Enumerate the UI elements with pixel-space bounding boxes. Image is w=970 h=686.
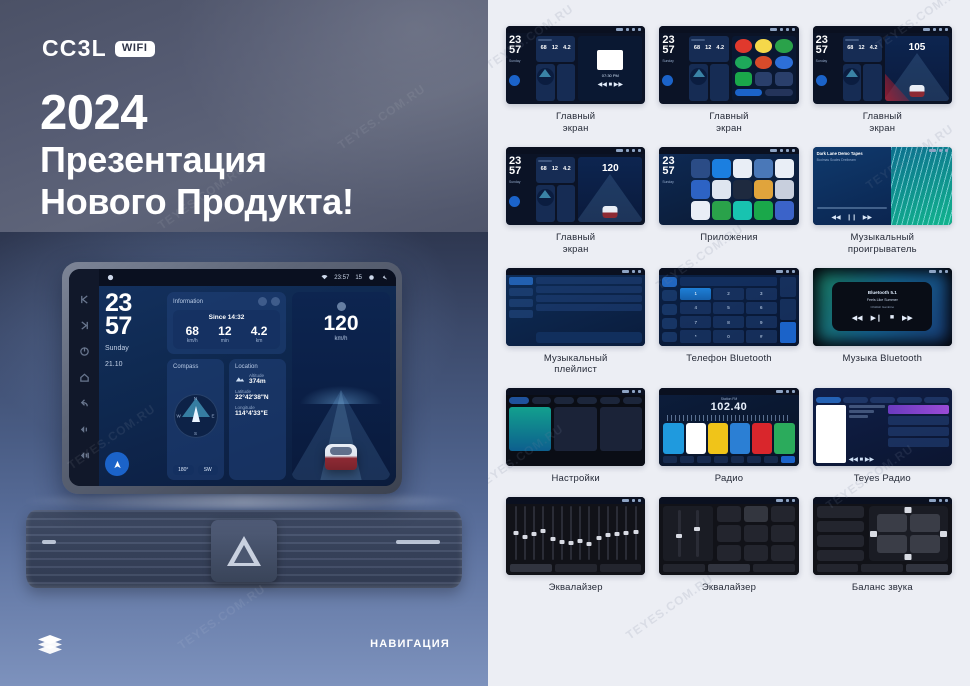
thumbnail-apps[interactable]: 2357Sunday: [659, 147, 798, 225]
thumbnail-teyes-radio[interactable]: ◀◀ ■ ▶▶: [813, 388, 952, 466]
slider-bass[interactable]: [678, 510, 681, 557]
hero-footer: НАВИГАЦИЯ: [0, 594, 488, 686]
information-card-header: Information: [173, 297, 280, 306]
thumbnail-bluetooth-phone[interactable]: 1 2 3 4 5 6 7 8 9 * 0 #: [659, 268, 798, 346]
speaker-front-left: [877, 514, 907, 532]
balance-view[interactable]: [813, 497, 952, 575]
dash-highlight: [20, 494, 469, 508]
eq-band[interactable]: [595, 506, 602, 560]
play-icon[interactable]: ▶❙: [871, 314, 882, 322]
dialer-actions[interactable]: [780, 277, 796, 343]
eq-band[interactable]: [567, 506, 574, 560]
gallery-item[interactable]: Настройки: [506, 388, 645, 485]
preset-custom[interactable]: [771, 545, 795, 561]
power-key[interactable]: [79, 346, 90, 357]
search-tab[interactable]: [662, 304, 677, 315]
app-icon-google[interactable]: [691, 201, 710, 220]
settings-tabs[interactable]: [509, 397, 642, 404]
preset-rear[interactable]: [817, 535, 864, 547]
station-row[interactable]: [888, 405, 949, 414]
driving-view-thumb[interactable]: 120: [578, 157, 642, 222]
app-icon-radio[interactable]: [775, 201, 794, 220]
tab-system[interactable]: [577, 397, 597, 404]
app-icon-camera[interactable]: [775, 159, 794, 178]
app-icon-play-store[interactable]: [735, 72, 752, 86]
gallery-item[interactable]: Эквалайзер: [659, 497, 798, 594]
app-icon-contacts[interactable]: [712, 180, 731, 199]
eq-band[interactable]: [558, 506, 565, 560]
product-logo: CC3L WIFI: [42, 35, 155, 62]
preset-6[interactable]: [774, 423, 794, 454]
dash-led-right: [396, 540, 440, 544]
eq-band[interactable]: [586, 506, 593, 560]
station-list[interactable]: [888, 405, 949, 463]
thumb-clock-minutes: 57: [509, 167, 533, 177]
balance-down-arrow[interactable]: [905, 554, 912, 560]
previous-icon[interactable]: ◀◀: [831, 214, 840, 221]
scan-button[interactable]: [680, 456, 694, 463]
head-unit-bezel: 23:57 15 23: [62, 262, 402, 494]
contacts-tab[interactable]: [662, 290, 677, 301]
settings-tab[interactable]: [662, 332, 677, 343]
track-row[interactable]: [536, 277, 642, 284]
trip-stat: 4.2 km: [251, 325, 268, 344]
dialer-sidebar[interactable]: [662, 277, 677, 343]
hero-title-line1: Презентация: [40, 139, 354, 181]
key-7[interactable]: 7: [680, 316, 711, 328]
tab-live[interactable]: [816, 397, 841, 403]
presentation-slide: CC3L WIFI 2024 Презентация Нового Продук…: [0, 0, 970, 686]
compass-w: W: [177, 414, 181, 419]
key-2[interactable]: 2: [713, 288, 744, 300]
app-icon-wifi[interactable]: [691, 159, 710, 178]
settings-button[interactable]: [764, 456, 778, 463]
thumb-clock-minutes: 57: [662, 167, 686, 177]
clock-minutes: 57: [105, 315, 161, 338]
head-unit-screen[interactable]: 23:57 15 23: [99, 269, 396, 486]
app-icon-more[interactable]: [775, 72, 792, 86]
tab-more[interactable]: [924, 397, 949, 403]
tab-sound[interactable]: [532, 397, 552, 404]
preset-1[interactable]: [663, 423, 683, 454]
driving-view-thumb[interactable]: 105: [885, 36, 949, 101]
dialer-view[interactable]: 1 2 3 4 5 6 7 8 9 * 0 #: [659, 268, 798, 346]
station-artwork: [816, 405, 846, 463]
app-icon-calculator[interactable]: [754, 159, 773, 178]
balance-left-arrow[interactable]: [870, 531, 877, 537]
equalizer-view[interactable]: [506, 497, 645, 575]
trip-stat-unit: km/h: [186, 338, 199, 344]
bluetooth-version: Bluetooth 5.1: [868, 290, 897, 295]
preset-flat[interactable]: [744, 545, 768, 561]
key-hash[interactable]: #: [746, 330, 777, 342]
expand-icon[interactable]: [271, 297, 280, 306]
key-4[interactable]: 4: [680, 302, 711, 314]
altitude-row: Altitude 374m: [235, 373, 280, 385]
gallery-item[interactable]: Баланс звука: [813, 497, 952, 594]
gallery-item[interactable]: 2357Sunday: [659, 147, 798, 256]
eq-tab-fader[interactable]: [906, 564, 948, 572]
radio-presets[interactable]: [663, 423, 794, 454]
latitude-value: 22°42'38"N: [235, 394, 280, 401]
trip-summary: Since 14:32 68 km/h 12: [173, 310, 280, 349]
gallery-item[interactable]: ◀◀ ■ ▶▶ Teyes Радио: [813, 388, 952, 485]
thumbnail-equalizer-pads[interactable]: [659, 497, 798, 575]
layer-top: [38, 635, 62, 644]
station-row[interactable]: [888, 427, 949, 436]
loc-button[interactable]: [731, 456, 745, 463]
preset-5[interactable]: [752, 423, 772, 454]
settings-view[interactable]: [506, 388, 645, 466]
station-row[interactable]: [888, 416, 949, 425]
settings-cards[interactable]: [509, 407, 642, 451]
equalizer-tabs[interactable]: [817, 564, 948, 572]
bluetooth-music-view[interactable]: Bluetooth 5.1 Feels Like Summer Childish…: [813, 268, 952, 346]
gallery-caption: Эквалайзер: [702, 582, 756, 594]
apps-button[interactable]: [781, 456, 795, 463]
eq-band[interactable]: [632, 506, 639, 560]
preset-3[interactable]: [708, 423, 728, 454]
more-card[interactable]: [600, 407, 642, 451]
eq-tab-bands[interactable]: [510, 564, 552, 572]
stop-icon[interactable]: ■: [890, 314, 894, 322]
tab-news[interactable]: [897, 397, 922, 403]
bt-playback-controls[interactable]: ◀◀ ▶❙ ■ ▶▶: [852, 314, 913, 322]
key-5[interactable]: 5: [713, 302, 744, 314]
preset-2[interactable]: [686, 423, 706, 454]
playlist-categories[interactable]: [509, 277, 533, 343]
radio-toolbar[interactable]: [663, 456, 794, 463]
gallery-item[interactable]: 2357Sunday 68124.2 07:30 PM ◀◀ ■ ▶▶ Глав…: [506, 26, 645, 135]
hazard-triangle-icon: [227, 536, 261, 566]
station-controls[interactable]: ◀◀ ■ ▶▶: [849, 456, 885, 463]
home-key[interactable]: [79, 372, 90, 383]
tab-podcasts[interactable]: [843, 397, 868, 403]
preset-bass[interactable]: [717, 545, 741, 561]
information-card[interactable]: Information Since 14:32: [167, 292, 286, 354]
track-list[interactable]: [536, 277, 642, 343]
key-0[interactable]: 0: [713, 330, 744, 342]
thumbnail-home-media[interactable]: 2357Sunday 68124.2 07:30 PM ◀◀ ■ ▶▶: [506, 26, 645, 104]
mini-player-bar[interactable]: [536, 332, 642, 343]
category-albums[interactable]: [509, 288, 533, 296]
thumb-clock-minutes: 57: [816, 46, 840, 56]
head-unit-side-keys[interactable]: [69, 269, 99, 486]
preset-jazz[interactable]: [717, 525, 741, 541]
preset-dance[interactable]: [771, 525, 795, 541]
gallery-caption: Главныйэкран: [556, 111, 595, 135]
preset-classic[interactable]: [744, 506, 768, 522]
thumbnail-radio[interactable]: Station FM 102.40: [659, 388, 798, 466]
track-row[interactable]: [536, 286, 642, 293]
bt-track-artist: Childish Gambino: [870, 305, 894, 309]
eq-band[interactable]: [521, 506, 528, 560]
eq-band[interactable]: [614, 506, 621, 560]
tab-music[interactable]: [870, 397, 895, 403]
trip-stat: 12 min: [218, 325, 231, 344]
eq-tab-bands[interactable]: [817, 564, 859, 572]
progress-bar[interactable]: [817, 207, 887, 209]
teyes-radio-view[interactable]: ◀◀ ■ ▶▶: [813, 388, 952, 466]
preset-pads[interactable]: [717, 506, 794, 561]
visualizer: [891, 147, 952, 225]
speed-value: 120: [292, 313, 390, 334]
eq-tab-effects[interactable]: [708, 564, 750, 572]
gallery-item[interactable]: Музыкальныйплейлист: [506, 268, 645, 377]
compass-degrees: 180°: [173, 465, 194, 475]
app-icon-yandex[interactable]: [755, 39, 772, 53]
gallery-item[interactable]: 1 2 3 4 5 6 7 8 9 * 0 #: [659, 268, 798, 377]
gallery-caption: Teyes Радио: [854, 473, 911, 485]
gallery-item[interactable]: Эквалайзер: [506, 497, 645, 594]
preset-front[interactable]: [817, 521, 864, 533]
keypad-tab[interactable]: [662, 277, 677, 288]
car-3d-model: [909, 85, 924, 97]
gallery-item[interactable]: 2357Sunday 68124.2: [659, 26, 798, 135]
equalizer-sliders[interactable]: [510, 506, 641, 564]
trip-stat-value: 68: [186, 325, 199, 337]
car-3d-model: [325, 444, 357, 470]
gallery-item[interactable]: Dark Lane Demo Tapes Bodmas Scales Dreib…: [813, 147, 952, 256]
eq-band[interactable]: [540, 506, 547, 560]
app-drawer[interactable]: [689, 157, 795, 222]
call-icon[interactable]: [780, 322, 796, 343]
thumbnail-home-drive[interactable]: 2357Sunday 68124.2 120: [506, 147, 645, 225]
eq-band[interactable]: [549, 506, 556, 560]
preset-all[interactable]: [817, 550, 864, 562]
thumbnail-home-drive-red[interactable]: 2357Sunday 68124.2 105: [813, 26, 952, 104]
app-icon-maps[interactable]: [712, 201, 731, 220]
teyes-tabs[interactable]: [816, 397, 949, 403]
app-icon-maps[interactable]: [775, 39, 792, 53]
preset-rock[interactable]: [771, 506, 795, 522]
app-icon-gallery[interactable]: [775, 180, 794, 199]
effect-sliders[interactable]: [663, 506, 713, 561]
speed-readout: 120 km/h: [292, 302, 390, 342]
hazard-light-button[interactable]: [211, 520, 277, 582]
balance-presets[interactable]: [817, 506, 864, 561]
hero-panel: CC3L WIFI 2024 Презентация Нового Продук…: [0, 0, 488, 686]
next-track-key[interactable]: [79, 320, 90, 331]
eq-band[interactable]: [512, 506, 519, 560]
track-row[interactable]: [536, 295, 642, 302]
rds-button[interactable]: [714, 456, 728, 463]
key-6[interactable]: 6: [746, 302, 777, 314]
thumbnail-settings[interactable]: [506, 388, 645, 466]
thumbnail-sound-balance[interactable]: [813, 497, 952, 575]
thumb-speed-value: 120: [578, 163, 642, 174]
media-controls[interactable]: ◀◀ ■ ▶▶: [598, 81, 623, 88]
equalizer-tabs[interactable]: [663, 564, 794, 572]
refresh-icon[interactable]: [258, 297, 267, 306]
list-button[interactable]: [697, 456, 711, 463]
app-icon-dvr[interactable]: [733, 180, 752, 199]
home-screen: 23 57 Sunday 21.10: [99, 286, 396, 486]
prev-track-key[interactable]: [79, 294, 90, 305]
hotspot-card[interactable]: [554, 407, 596, 451]
key-3[interactable]: 3: [746, 288, 777, 300]
speed-unit: km/h: [292, 336, 390, 342]
tab-wifi[interactable]: [509, 397, 529, 404]
widgets-column: Information Since 14:32: [167, 292, 286, 480]
eq-button[interactable]: [747, 456, 761, 463]
compass-card[interactable]: Compass N S W: [167, 359, 224, 480]
trip-stat-value: 4.2: [251, 325, 268, 337]
altitude-value: 374m: [249, 378, 266, 385]
gallery-item[interactable]: 2357Sunday 68124.2 105 Главныйэк: [813, 26, 952, 135]
wifi-card[interactable]: [509, 407, 551, 451]
driving-view[interactable]: 120 km/h: [292, 292, 390, 480]
thumb-speed-value: 105: [885, 42, 949, 53]
balance-up-arrow[interactable]: [905, 507, 912, 513]
playback-controls[interactable]: ◀◀ ❙❙ ▶▶: [817, 214, 887, 221]
wifi-badge: WIFI: [115, 41, 155, 57]
backspace-icon[interactable]: [780, 299, 796, 320]
thumbnail-music-player[interactable]: Dark Lane Demo Tapes Bodmas Scales Dreib…: [813, 147, 952, 225]
clock-day: Sunday: [105, 344, 161, 354]
compass-readout: 180° SW: [173, 465, 218, 475]
key-8[interactable]: 8: [713, 316, 744, 328]
gallery-item[interactable]: Station FM 102.40: [659, 388, 798, 485]
app-page-indicator[interactable]: [735, 89, 763, 96]
app-icon-play-store[interactable]: [754, 201, 773, 220]
longitude-row: Longitude 114°4'33"E: [235, 405, 280, 417]
eq-tab-bands[interactable]: [663, 564, 705, 572]
gallery-caption: Эквалайзер: [549, 582, 603, 594]
call-log-tab[interactable]: [662, 318, 677, 329]
gallery-grid: 2357Sunday 68124.2 07:30 PM ◀◀ ■ ▶▶ Глав…: [506, 26, 952, 594]
tab-display[interactable]: [554, 397, 574, 404]
preset-driver[interactable]: [817, 506, 864, 518]
navigation-button[interactable]: [105, 452, 129, 476]
gallery-caption: Главныйэкран: [709, 111, 748, 135]
app-icon-file-manager[interactable]: [754, 180, 773, 199]
key-9[interactable]: 9: [746, 316, 777, 328]
mountain-icon: [235, 374, 245, 384]
trip-stat-value: 12: [218, 325, 231, 337]
favorite-icon[interactable]: [780, 277, 796, 298]
band-button[interactable]: [663, 456, 677, 463]
key-1[interactable]: 1: [680, 288, 711, 300]
gallery-item[interactable]: 2357Sunday 68124.2 120 Главныйэкран: [506, 147, 645, 256]
logo-text: CC3L: [42, 35, 107, 62]
gear-icon[interactable]: [368, 274, 375, 281]
slider-treble[interactable]: [696, 510, 699, 557]
app-icon-chrome[interactable]: [691, 180, 710, 199]
thumb-nav-button: [509, 75, 520, 86]
now-playing-panel[interactable]: Dark Lane Demo Tapes Bodmas Scales Dreib…: [813, 147, 891, 225]
gallery-item[interactable]: Bluetooth 5.1 Feels Like Summer Childish…: [813, 268, 952, 377]
back-key[interactable]: [79, 398, 90, 409]
app-settings-button[interactable]: [765, 89, 793, 96]
compass-s: S: [194, 431, 197, 436]
thumbnail-bluetooth-music[interactable]: Bluetooth 5.1 Feels Like Summer Childish…: [813, 268, 952, 346]
app-icon-spotify[interactable]: [735, 56, 752, 70]
category-favorites[interactable]: [509, 299, 533, 307]
previous-icon[interactable]: ◀◀: [852, 314, 863, 322]
app-shortcuts-panel[interactable]: [732, 36, 796, 101]
eq-tab-fader[interactable]: [600, 564, 642, 572]
key-star[interactable]: *: [680, 330, 711, 342]
category-folders[interactable]: [509, 310, 533, 318]
app-icon-grid[interactable]: [755, 72, 772, 86]
app-icon-bluetooth-music[interactable]: [733, 159, 752, 178]
eq-tab-effects[interactable]: [861, 564, 903, 572]
thumb-clock-minutes: 57: [509, 46, 533, 56]
track-row[interactable]: [536, 304, 642, 311]
gallery-caption: Радио: [715, 473, 743, 485]
home-indicator-icon[interactable]: [107, 274, 114, 281]
eq-tab-effects[interactable]: [555, 564, 597, 572]
number-display: [680, 277, 776, 286]
pause-icon[interactable]: ❙❙: [847, 214, 857, 221]
gallery-caption: Музыкальныйплейлист: [544, 353, 608, 377]
track-artist: Bodmas Scales Dreibeam: [817, 158, 887, 162]
app-icon-bluetooth[interactable]: [712, 159, 731, 178]
car-3d-model: [603, 206, 618, 218]
preset-vocal[interactable]: [744, 525, 768, 541]
volume-up-key[interactable]: [79, 450, 90, 461]
information-title: Information: [173, 299, 203, 305]
playlist-view[interactable]: [506, 268, 645, 346]
preset-pop[interactable]: [717, 506, 741, 522]
hero-title: 2024 Презентация Нового Продукта!: [40, 88, 354, 222]
thumb-clock-minutes: 57: [662, 46, 686, 56]
next-icon[interactable]: ▶▶: [902, 314, 913, 322]
thumbnail-playlist[interactable]: [506, 268, 645, 346]
speaker-rear-left: [877, 535, 907, 553]
equalizer-effects-view[interactable]: [659, 497, 798, 575]
eq-tab-fader[interactable]: [753, 564, 795, 572]
back-icon[interactable]: [381, 274, 388, 281]
thumbnail-home-apps[interactable]: 2357Sunday 68124.2: [659, 26, 798, 104]
hero-title-line2: Нового Продукта!: [40, 181, 354, 223]
preset-4[interactable]: [730, 423, 750, 454]
radio-view[interactable]: Station FM 102.40: [659, 388, 798, 466]
layers-icon: [38, 634, 62, 654]
next-icon[interactable]: ▶▶: [863, 214, 872, 221]
information-card-actions[interactable]: [258, 297, 280, 306]
balance-right-arrow[interactable]: [940, 531, 947, 537]
location-card[interactable]: Location Altitude 374m: [229, 359, 286, 480]
thumbnail-equalizer-bars[interactable]: [506, 497, 645, 575]
speed-icon: [337, 302, 346, 311]
eq-band[interactable]: [604, 506, 611, 560]
wifi-icon: [321, 274, 328, 281]
eq-band[interactable]: [623, 506, 630, 560]
tab-apps[interactable]: [600, 397, 620, 404]
compass-dial: N S W E: [173, 370, 218, 462]
clock-date: 21.10: [105, 360, 161, 370]
eq-band[interactable]: [577, 506, 584, 560]
eq-band[interactable]: [530, 506, 537, 560]
app-icon-music-player[interactable]: [733, 201, 752, 220]
frequency-scale[interactable]: [667, 415, 790, 421]
equalizer-tabs[interactable]: [510, 564, 641, 572]
app-icon-youtube[interactable]: [735, 39, 752, 53]
balance-pad[interactable]: [869, 506, 948, 561]
keypad[interactable]: 1 2 3 4 5 6 7 8 9 * 0 #: [680, 288, 776, 343]
category-tracks[interactable]: [509, 277, 533, 285]
app-icon-music[interactable]: [755, 56, 772, 70]
trip-stat-unit: min: [218, 338, 231, 344]
tab-about[interactable]: [623, 397, 643, 404]
station-row[interactable]: [888, 438, 949, 447]
volume-down-key[interactable]: [79, 424, 90, 435]
app-icon-mail[interactable]: [775, 56, 792, 70]
bt-track-title: Feels Like Summer: [867, 298, 898, 302]
location-title: Location: [235, 364, 280, 370]
